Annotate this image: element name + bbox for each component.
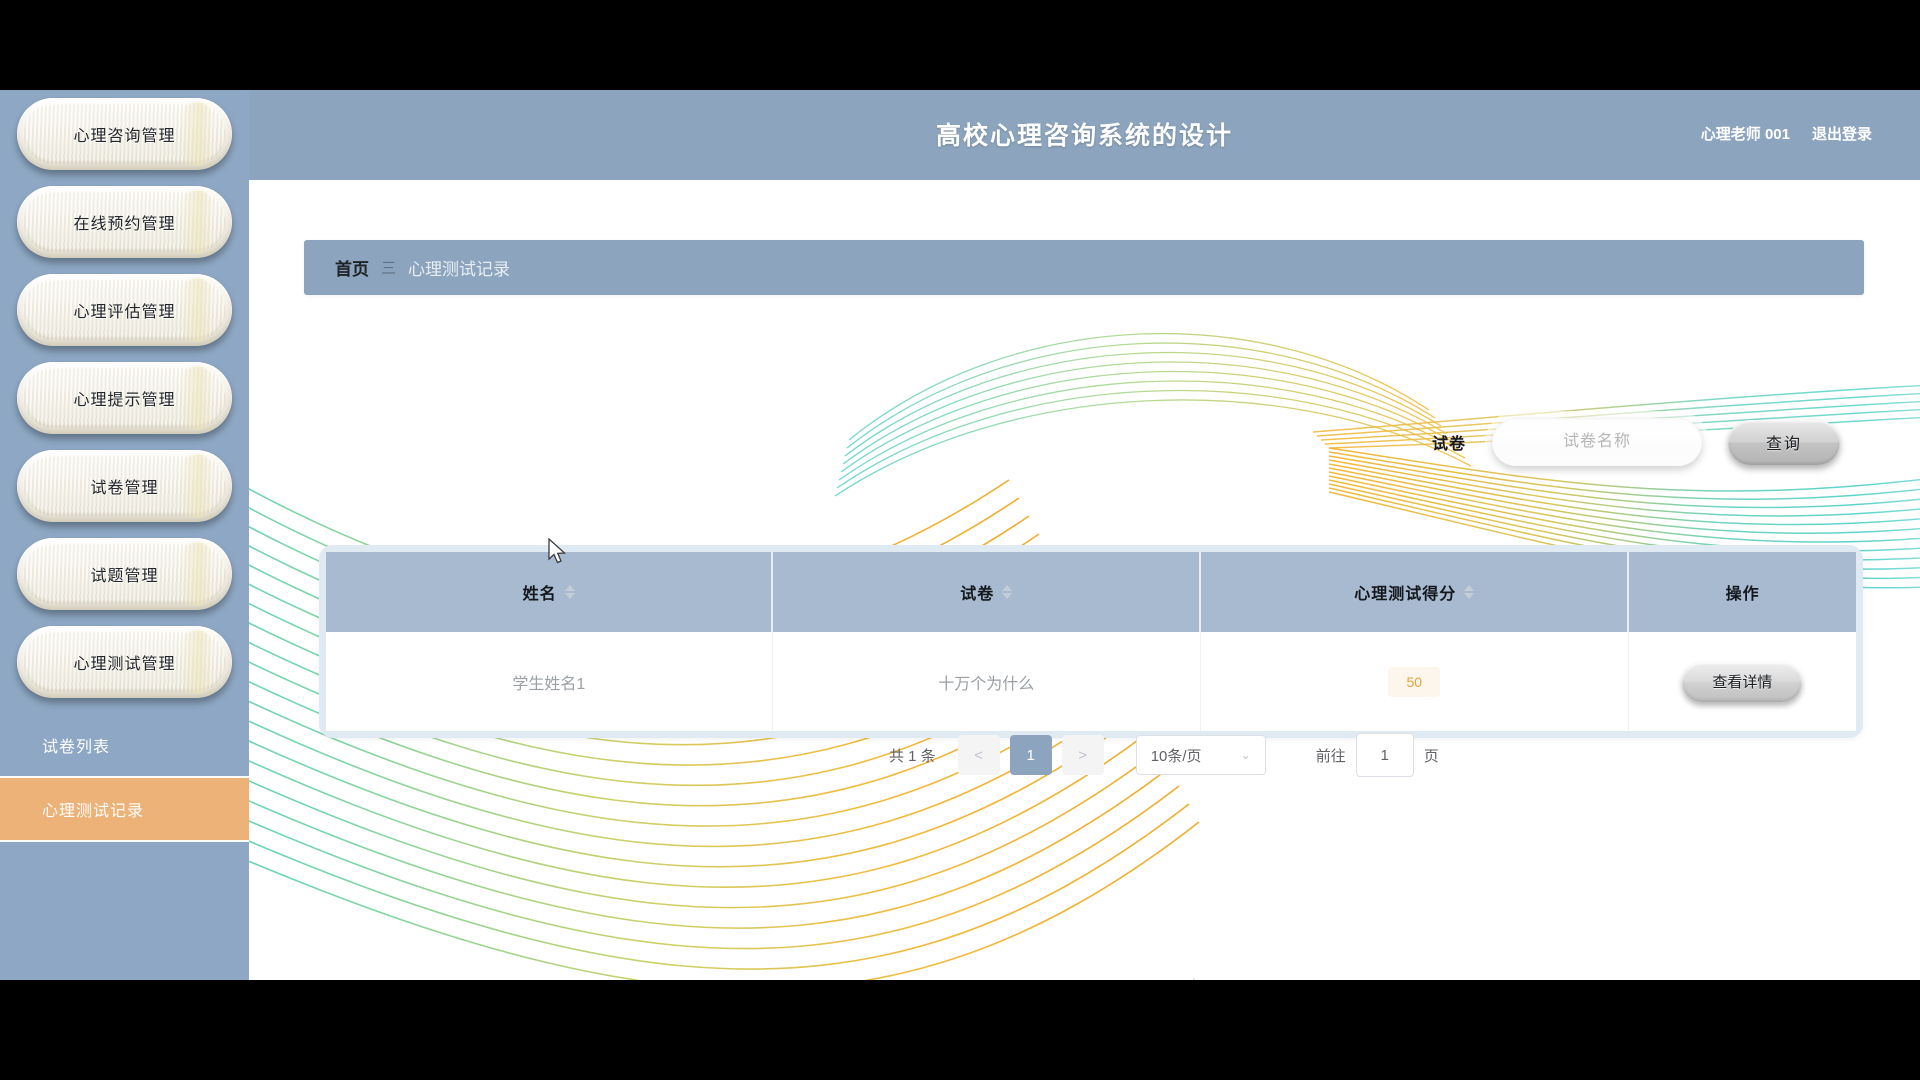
search-field-label: 试卷 (1432, 430, 1466, 454)
sidebar-item-assessment[interactable]: 心理评估管理 (17, 274, 232, 346)
column-label: 操作 (1726, 586, 1760, 603)
cell-paper: 十万个为什么 (772, 632, 1200, 731)
sidebar-subitem-paper-list[interactable]: 试卷列表 (0, 714, 249, 778)
sidebar-item-tips[interactable]: 心理提示管理 (17, 362, 232, 434)
sidebar-item-label: 试题管理 (90, 562, 158, 586)
brand-watermark-icon (1189, 975, 1259, 980)
column-label: 试卷 (960, 580, 994, 604)
sidebar-item-label: 试卷管理 (90, 474, 158, 498)
pagination-jump: 前往 页 (1316, 733, 1439, 777)
page-size-value: 10条/页 (1151, 745, 1202, 766)
sidebar-subitem-label: 心理测试记录 (42, 797, 144, 821)
sidebar-item-label: 心理评估管理 (73, 298, 175, 322)
screen-root: 心理咨询管理 在线预约管理 心理评估管理 心理提示管理 试卷管理 试题管理 (0, 0, 1920, 1080)
column-label: 心理测试得分 (1354, 580, 1456, 604)
sidebar-item-label: 在线预约管理 (73, 210, 175, 234)
breadcrumb-separator-icon: 三 (381, 257, 396, 278)
pagination-total: 共 1 条 (889, 745, 936, 766)
breadcrumb-home-link[interactable]: 首页 (335, 255, 369, 280)
breadcrumb-current: 心理测试记录 (408, 255, 510, 280)
sort-caret-icon[interactable] (565, 585, 575, 599)
column-label: 姓名 (523, 580, 557, 604)
application-window: 心理咨询管理 在线预约管理 心理评估管理 心理提示管理 试卷管理 试题管理 (0, 90, 1920, 980)
sidebar: 心理咨询管理 在线预约管理 心理评估管理 心理提示管理 试卷管理 试题管理 (0, 90, 249, 980)
records-table: 姓名 试卷 (326, 552, 1856, 731)
pagination: 共 1 条 < 1 > 10条/页 ⌄ 前往 页 (889, 733, 1439, 777)
search-input-wrapper[interactable] (1492, 418, 1702, 466)
sidebar-subitem-label: 试卷列表 (42, 733, 110, 757)
user-name-label: 心理老师 001 (1701, 123, 1790, 144)
jump-prefix-label: 前往 (1316, 745, 1346, 766)
sidebar-item-paper[interactable]: 试卷管理 (17, 450, 232, 522)
top-header-bar: 高校心理咨询系统的设计 心理老师 001 退出登录 (249, 90, 1920, 180)
search-submit-button[interactable]: 查询 (1728, 420, 1840, 465)
header-user-area: 心理老师 001 退出登录 (1701, 123, 1872, 144)
cell-name: 学生姓名1 (326, 632, 772, 731)
sidebar-item-question[interactable]: 试题管理 (17, 538, 232, 610)
column-header-score[interactable]: 心理测试得分 (1200, 552, 1628, 632)
pagination-prev-button[interactable]: < (958, 735, 1000, 775)
sidebar-item-test-management[interactable]: 心理测试管理 (17, 626, 232, 698)
sidebar-item-counseling[interactable]: 心理咨询管理 (17, 98, 232, 170)
cell-action: 查看详情 (1628, 632, 1856, 731)
cell-score: 50 (1200, 632, 1628, 731)
page-size-select[interactable]: 10条/页 ⌄ (1136, 735, 1266, 775)
pagination-next-button[interactable]: > (1062, 735, 1104, 775)
search-input[interactable] (1510, 432, 1684, 452)
sort-caret-icon[interactable] (1464, 585, 1474, 599)
sidebar-item-label: 心理测试管理 (73, 650, 175, 674)
table-body: 学生姓名1 十万个为什么 50 查看详情 (326, 632, 1856, 731)
jump-page-input[interactable] (1356, 733, 1414, 777)
sort-caret-icon[interactable] (1002, 585, 1012, 599)
sidebar-item-appointment[interactable]: 在线预约管理 (17, 186, 232, 258)
content-area: 首页 三 心理测试记录 试卷 查询 (249, 180, 1920, 980)
sidebar-item-label: 心理提示管理 (73, 386, 175, 410)
page-title: 高校心理咨询系统的设计 (249, 116, 1920, 152)
breadcrumb: 首页 三 心理测试记录 (304, 240, 1864, 295)
column-header-name[interactable]: 姓名 (326, 552, 772, 632)
view-detail-button[interactable]: 查看详情 (1682, 662, 1802, 702)
table-head: 姓名 试卷 (326, 552, 1856, 632)
table-header-row: 姓名 试卷 (326, 552, 1856, 632)
logout-button[interactable]: 退出登录 (1812, 123, 1872, 144)
search-toolbar: 试卷 查询 (1432, 418, 1840, 466)
sidebar-nav-list: 心理咨询管理 在线预约管理 心理评估管理 心理提示管理 试卷管理 试题管理 (0, 90, 249, 698)
column-header-paper[interactable]: 试卷 (772, 552, 1200, 632)
table-row[interactable]: 学生姓名1 十万个为什么 50 查看详情 (326, 632, 1856, 731)
records-table-container: 姓名 试卷 (319, 545, 1863, 738)
jump-suffix-label: 页 (1424, 745, 1439, 766)
pagination-page-1[interactable]: 1 (1010, 735, 1052, 775)
chevron-down-icon: ⌄ (1241, 748, 1251, 762)
sidebar-item-label: 心理咨询管理 (73, 122, 175, 146)
status-badge: 50 (1388, 667, 1440, 697)
sidebar-subitem-test-records[interactable]: 心理测试记录 (0, 778, 249, 842)
column-header-action: 操作 (1628, 552, 1856, 632)
